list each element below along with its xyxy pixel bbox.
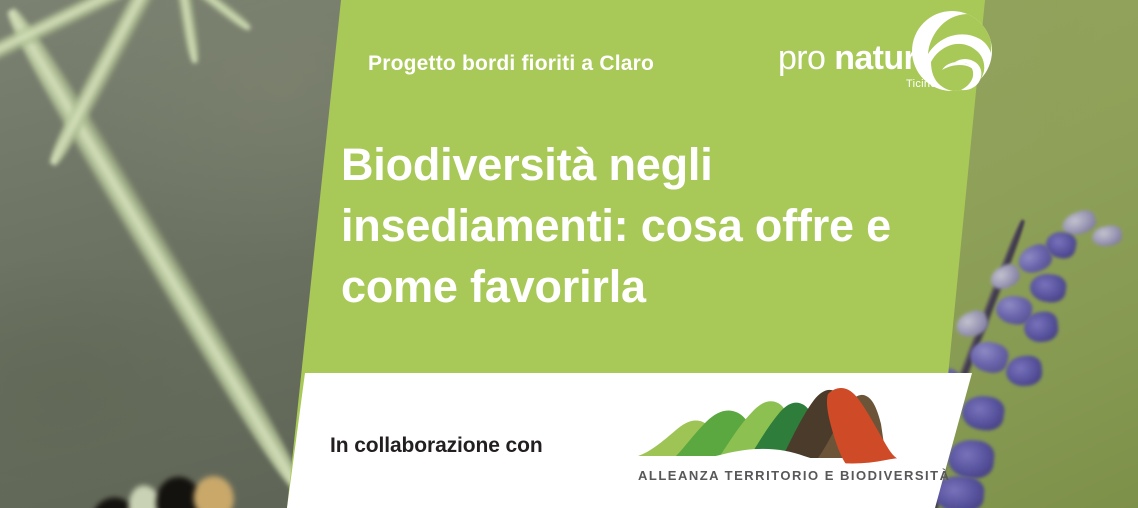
bumblebee (83, 456, 244, 508)
lizard-circle-emblem-icon (911, 10, 993, 92)
collaboration-label: In collaborazione con (330, 434, 543, 458)
plant-stem-main (0, 2, 312, 497)
salvia-floret (960, 393, 1006, 433)
plant-stem-branch (159, 0, 254, 34)
project-eyebrow-text: Progetto bordi fioriti a Claro (368, 52, 654, 76)
alleanza-territorio-biodiversita-logo: ALLEANZA TERRITORIO E BIODIVERSITÀ (632, 386, 922, 491)
salvia-floret (946, 438, 996, 481)
presentation-slide: Progetto bordi fioriti a Claro Biodivers… (0, 0, 1138, 508)
pro-natura-logo: pro natura Ticino (778, 8, 998, 100)
bumblebee-band (190, 473, 238, 508)
mountains-icon (632, 386, 922, 464)
alleanza-logo-caption: ALLEANZA TERRITORIO E BIODIVERSITÀ (638, 468, 922, 483)
salvia-floret (1091, 224, 1123, 248)
salvia-floret (1005, 355, 1043, 387)
salvia-floret (1028, 272, 1068, 305)
plant-stem-branch (164, 0, 202, 64)
pro-natura-word-pro: pro (778, 39, 834, 77)
page-title: Biodiversità negli insediamenti: cosa of… (341, 134, 966, 318)
